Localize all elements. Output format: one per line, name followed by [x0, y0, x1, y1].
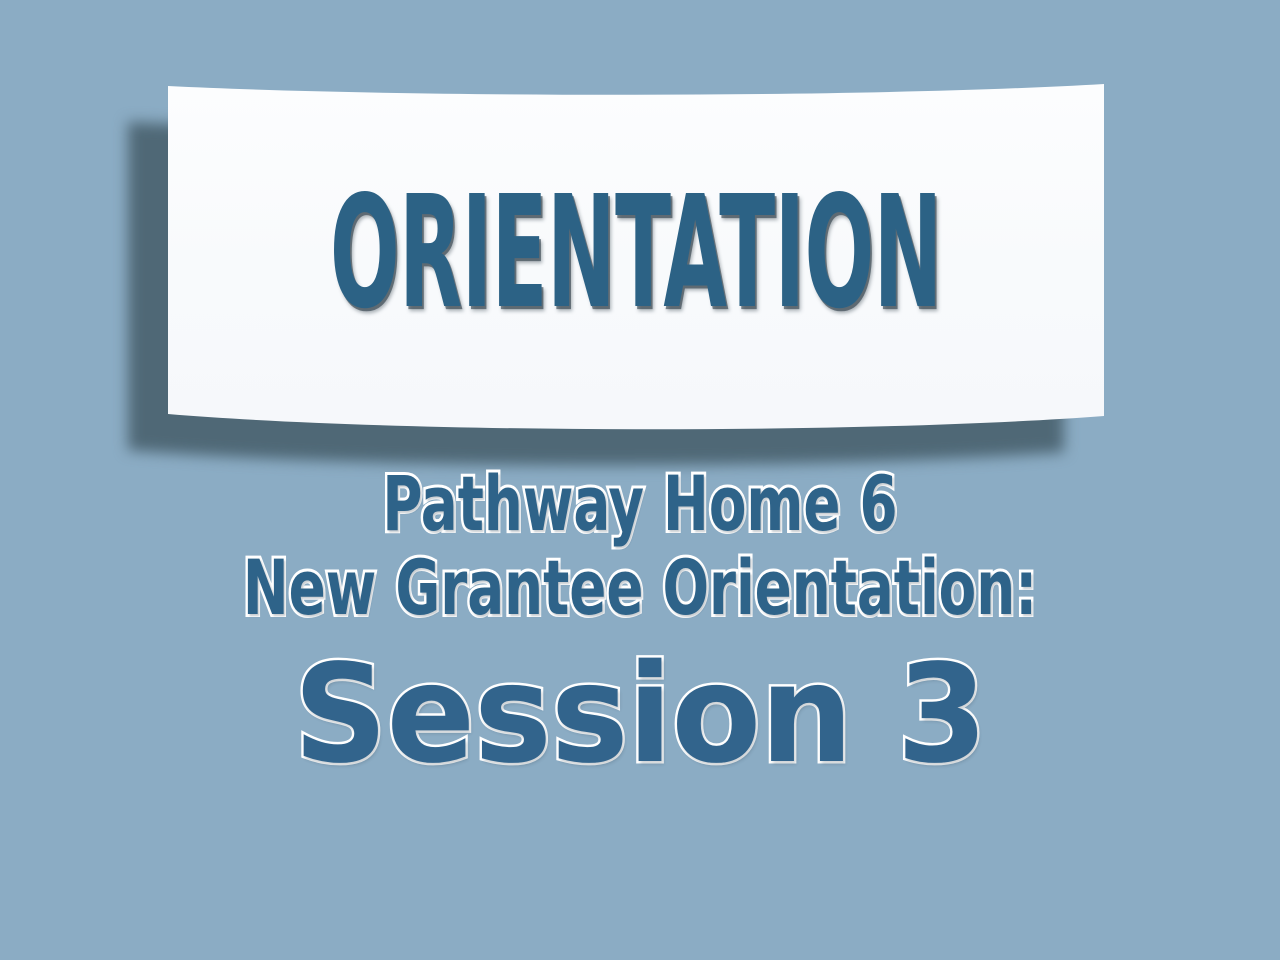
title-slide: ORIENTATION Pathway Home 6 New Grantee O… — [0, 0, 1280, 960]
title-card: ORIENTATION — [168, 82, 1104, 430]
page-title: ORIENTATION — [330, 175, 942, 330]
session-block: Session 3 — [0, 640, 1280, 790]
subtitle-line-1: Pathway Home 6 — [128, 462, 1152, 546]
subtitle-block: Pathway Home 6 New Grantee Orientation: — [0, 462, 1280, 630]
subtitle-line-2: New Grantee Orientation: — [128, 546, 1152, 630]
title-card-text-layer: ORIENTATION — [168, 82, 1104, 430]
session-label: Session 3 — [26, 640, 1255, 790]
